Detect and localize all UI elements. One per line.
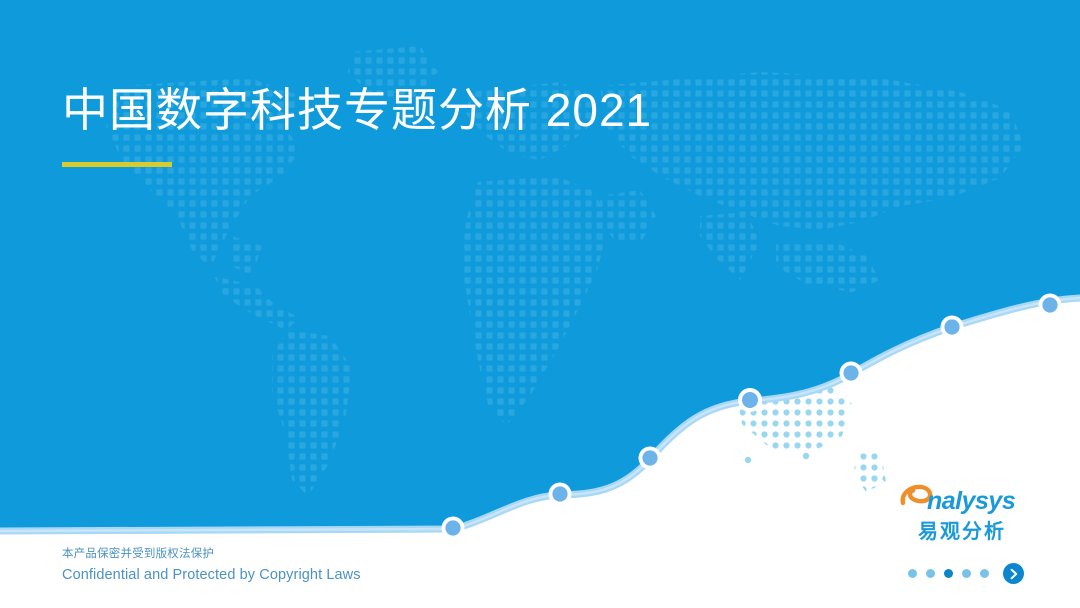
chart-marker: [1039, 294, 1062, 317]
confidential-note-cn: 本产品保密并受到版权法保护: [62, 546, 361, 564]
analysys-logo: nalysys analysys 易观分析: [896, 482, 1028, 544]
pager-dot-2[interactable]: [926, 569, 935, 578]
title-accent-rule: [62, 162, 172, 167]
chart-marker: [738, 388, 762, 412]
pager-dot-3[interactable]: [944, 569, 953, 578]
logo-wordmark: nalysys analysys: [896, 482, 1028, 516]
svg-text:nalysys: nalysys: [927, 487, 1016, 515]
confidential-note-en: Confidential and Protected by Copyright …: [62, 564, 361, 586]
chart-marker: [840, 362, 863, 385]
chart-marker: [941, 316, 964, 339]
chart-marker: [639, 447, 662, 470]
pager-dot-1[interactable]: [908, 569, 917, 578]
chart-marker: [442, 517, 465, 540]
chart-marker: [549, 483, 572, 506]
pager-dot-4[interactable]: [962, 569, 971, 578]
pager-dot-5[interactable]: [980, 569, 989, 578]
slide-canvas: 中国数字科技专题分析 2021 本产品保密并受到版权法保护 Confidenti…: [0, 0, 1080, 608]
confidential-note: 本产品保密并受到版权法保护 Confidential and Protected…: [62, 546, 361, 586]
page-title: 中国数字科技专题分析 2021: [62, 82, 962, 140]
next-page-button[interactable]: [1003, 563, 1024, 584]
slide-pager[interactable]: [908, 563, 1024, 584]
title-block: 中国数字科技专题分析 2021: [62, 82, 962, 167]
chevron-right-icon: [1008, 568, 1020, 580]
logo-name-cn: 易观分析: [896, 515, 1028, 544]
